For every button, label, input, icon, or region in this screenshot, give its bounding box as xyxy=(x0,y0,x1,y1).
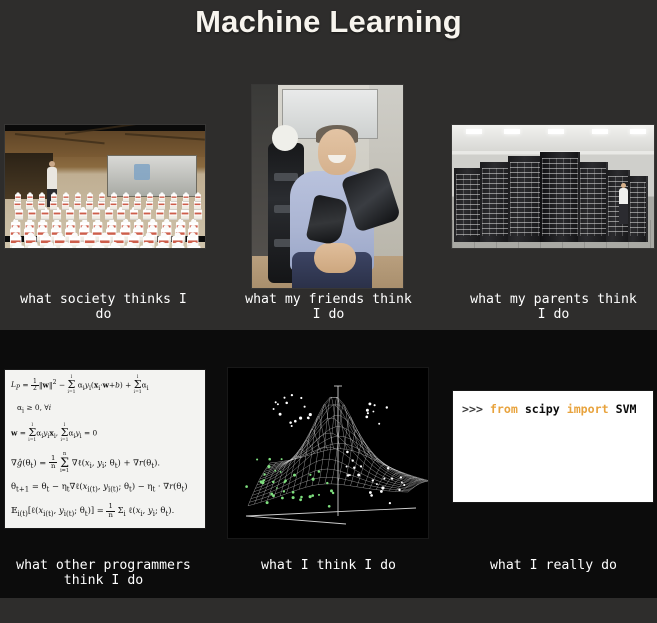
equation-update: θt+1 = θt − ηt∇ℓ(xi(t), yi(t); θt) − ηt … xyxy=(11,482,201,494)
robot-figure xyxy=(171,194,177,202)
scatter-point xyxy=(300,397,302,399)
scatter-point xyxy=(309,413,312,416)
rack-blade-grid xyxy=(630,182,646,236)
scatter-point xyxy=(294,420,297,423)
scatter-point xyxy=(299,498,302,501)
caption-friends: what my friends think I do xyxy=(225,292,432,322)
rack-blade-grid xyxy=(542,158,578,236)
scatter-point xyxy=(268,458,271,461)
robot-figure xyxy=(110,201,117,210)
robot-figure xyxy=(53,209,61,220)
scatter-point xyxy=(266,501,269,504)
scatter-point xyxy=(369,491,372,494)
robot-figure xyxy=(172,246,184,248)
robot-figure xyxy=(140,246,152,248)
robot-figure xyxy=(92,209,100,220)
server-rack xyxy=(540,152,580,242)
robot-figure xyxy=(156,246,168,248)
man-hands xyxy=(314,243,356,273)
scatter-point xyxy=(330,489,333,492)
caption-i-really-do: what I really do xyxy=(450,558,657,573)
scatter-point xyxy=(291,425,293,427)
robot-figure xyxy=(182,201,189,210)
scatter-point xyxy=(368,402,371,405)
scatter-point xyxy=(283,397,285,399)
ceiling-light xyxy=(504,129,520,134)
ceiling-light xyxy=(592,129,608,134)
keyword-import: import xyxy=(567,402,609,416)
scatter-point xyxy=(372,411,374,413)
scatter-point xyxy=(304,406,306,408)
scatter-point xyxy=(347,474,350,477)
scatter-point xyxy=(346,466,348,468)
robot-figure xyxy=(105,209,113,220)
scatter-point xyxy=(360,465,362,467)
robot-figure xyxy=(170,201,177,210)
robot-figure xyxy=(44,246,56,248)
scatter-point xyxy=(318,470,321,473)
scatter-point xyxy=(383,478,385,480)
rack-blade-grid xyxy=(580,168,606,236)
robot-figure xyxy=(15,209,23,220)
scatter-point xyxy=(391,477,393,479)
robot-figure xyxy=(130,209,138,220)
robot-figure xyxy=(62,201,69,210)
panel-image-friends xyxy=(252,85,403,288)
scatter-point xyxy=(300,496,303,499)
scatter-point xyxy=(380,490,383,493)
equation-constraint: αi ≥ 0, ∀i xyxy=(11,404,201,415)
scatter-point xyxy=(311,494,314,497)
scatter-point xyxy=(372,479,374,481)
scatter-point xyxy=(276,487,278,489)
arm-joint xyxy=(274,173,298,181)
scatter-point xyxy=(326,482,328,484)
robot-figure xyxy=(98,201,105,210)
scatter-point xyxy=(289,421,292,424)
robot-figure xyxy=(108,246,120,248)
scatter-point xyxy=(274,470,276,472)
scatter-point xyxy=(281,497,284,500)
robot-figure xyxy=(27,194,33,202)
scatter-point xyxy=(378,423,380,425)
caption-parents: what my parents think I do xyxy=(450,292,657,322)
scatter-point xyxy=(328,505,331,508)
scatter-point xyxy=(272,481,275,484)
robot-figure xyxy=(76,246,88,248)
scatter-point xyxy=(365,416,368,419)
scatter-point xyxy=(309,474,311,476)
robot-figure xyxy=(60,246,72,248)
robot-figure xyxy=(38,201,45,210)
man-head xyxy=(318,129,356,175)
code-line: >>> from scipy import SVM xyxy=(462,402,637,416)
scatter-point xyxy=(292,491,295,494)
scatter-point xyxy=(312,478,315,481)
scatter-point xyxy=(285,402,288,405)
robot-figure xyxy=(146,201,153,210)
scatter-point xyxy=(381,486,384,489)
equation-gradient: ∇ĝ(θt) = 1n nΣi=1 ∇ℓ(xi, yi; θt) + ∇r(θt… xyxy=(11,452,201,474)
robot-figure xyxy=(194,201,201,210)
scatter-point xyxy=(309,495,312,498)
scatter-point xyxy=(267,465,270,468)
robot-figure xyxy=(169,209,177,220)
scatter-point xyxy=(256,458,258,460)
robot-figure xyxy=(156,209,164,220)
robot-figure xyxy=(12,246,24,248)
scatter-point xyxy=(357,474,360,477)
module-name: scipy xyxy=(518,402,567,416)
scatter-point xyxy=(283,490,285,492)
scatter-point xyxy=(293,474,296,477)
robot-figure xyxy=(50,201,57,210)
robot-figure xyxy=(134,201,141,210)
title-bar: Machine Learning xyxy=(0,0,657,58)
robot-figure xyxy=(111,194,117,202)
robot-figure xyxy=(63,194,69,202)
scatter-point xyxy=(281,458,283,460)
scatter-point xyxy=(318,494,320,496)
robot-figure xyxy=(135,194,141,202)
equation-lagrangian: LP = 12‖w‖2 − lΣi=1 αiyi(xi·w+b) + lΣi=1… xyxy=(11,376,201,395)
robot-figure xyxy=(14,201,21,210)
robot-figure xyxy=(124,246,136,248)
robot-figure xyxy=(79,209,87,220)
scatter-point xyxy=(353,466,355,468)
scatter-point xyxy=(374,404,376,406)
scatter-point xyxy=(245,485,248,488)
caption-society: what society thinks I do xyxy=(0,292,207,322)
panel-image-i-think xyxy=(228,368,428,538)
robot-figure xyxy=(159,194,165,202)
scatter-point xyxy=(403,484,405,486)
scatter-point xyxy=(366,409,369,412)
robot-figure xyxy=(28,246,40,248)
ceiling-light xyxy=(548,129,564,134)
scatter-point xyxy=(389,502,391,504)
robot-figure xyxy=(39,194,45,202)
robot-figure xyxy=(41,209,49,220)
robot-figure xyxy=(117,209,125,220)
scatter-point xyxy=(387,467,390,470)
scatter-point xyxy=(346,451,349,454)
robot-figure xyxy=(87,194,93,202)
footer-band xyxy=(0,598,657,623)
server-rack xyxy=(508,156,542,242)
scatter-point xyxy=(277,403,279,405)
robot-figure xyxy=(188,246,200,248)
scatter-point xyxy=(279,413,282,416)
server-rack xyxy=(628,176,648,242)
scatter-point xyxy=(308,417,310,419)
panel-image-i-really-do: >>> from scipy import SVM xyxy=(453,391,653,502)
equation-block: LP = 12‖w‖2 − lΣi=1 αiyi(xi·w+b) + lΣi=1… xyxy=(11,376,201,528)
scatter-point xyxy=(262,479,264,481)
imported-symbol: SVM xyxy=(609,402,637,416)
scatter-point xyxy=(400,476,402,478)
ceiling-light xyxy=(466,129,482,134)
server-rack xyxy=(578,162,608,242)
robot-figure xyxy=(194,209,202,220)
equation-w: w = lΣi=1αiyixi, lΣi=1αiyi = 0 xyxy=(11,424,201,443)
scatter-point xyxy=(367,412,369,414)
robot-figure xyxy=(86,201,93,210)
robot-figure xyxy=(74,201,81,210)
equation-expectation: 𝔼i(t)[ℓ(xi(t), yi(t); θt)] = 1n Σi ℓ(xi,… xyxy=(11,503,201,518)
server-rack xyxy=(480,162,510,242)
server-rack xyxy=(454,168,482,242)
scatter-point xyxy=(292,496,295,499)
meme-image: Machine Learning what society thinks I d… xyxy=(0,0,657,623)
surface-plot-svg xyxy=(228,368,428,538)
panel-image-society xyxy=(5,125,205,248)
caption-other-programmers: what other programmers think I do xyxy=(0,558,207,588)
robot-figure xyxy=(26,201,33,210)
technician xyxy=(619,188,628,224)
scatter-point xyxy=(270,493,273,496)
robot-figure xyxy=(183,194,189,202)
scatter-point xyxy=(280,471,282,473)
scatter-point xyxy=(291,394,293,396)
scatter-point xyxy=(349,474,351,476)
robot-figure xyxy=(15,194,21,202)
scatter-point xyxy=(275,401,277,403)
python-prompt: >>> xyxy=(462,402,490,416)
rack-blade-grid xyxy=(482,168,508,236)
rack-blade-grid xyxy=(510,162,540,236)
projection-screen xyxy=(107,155,197,197)
robot-figure xyxy=(99,194,105,202)
panel-image-parents xyxy=(452,125,654,248)
robot-figure xyxy=(123,194,129,202)
robot-figure xyxy=(92,246,104,248)
caption-i-think: what I think I do xyxy=(225,558,432,573)
robot-figure xyxy=(66,209,74,220)
scatter-point xyxy=(260,480,263,483)
robot-figure xyxy=(147,194,153,202)
robot-figure xyxy=(158,201,165,210)
scatter-point xyxy=(352,459,354,461)
robot-figure xyxy=(51,194,57,202)
panel-image-other-programmers: LP = 12‖w‖2 − lΣi=1 αiyi(xi·w+b) + lΣi=1… xyxy=(5,370,205,528)
robot-figure xyxy=(75,194,81,202)
robot-figure xyxy=(122,201,129,210)
ceiling-light xyxy=(630,129,646,134)
scatter-point xyxy=(386,406,388,408)
scatter-point xyxy=(284,479,287,482)
keyword-from: from xyxy=(490,402,518,416)
page-title: Machine Learning xyxy=(0,4,657,40)
scatter-point xyxy=(299,417,302,420)
scatter-point xyxy=(398,489,400,491)
scatter-point xyxy=(376,483,378,485)
robot-figure xyxy=(28,209,36,220)
robot-figure xyxy=(181,209,189,220)
rack-blade-grid xyxy=(456,174,480,236)
robot-figure xyxy=(195,194,201,202)
scatter-point xyxy=(370,494,373,497)
scatter-point xyxy=(401,481,403,483)
scatter-point xyxy=(263,473,265,475)
scatter-point xyxy=(273,408,275,410)
robot-figure xyxy=(143,209,151,220)
